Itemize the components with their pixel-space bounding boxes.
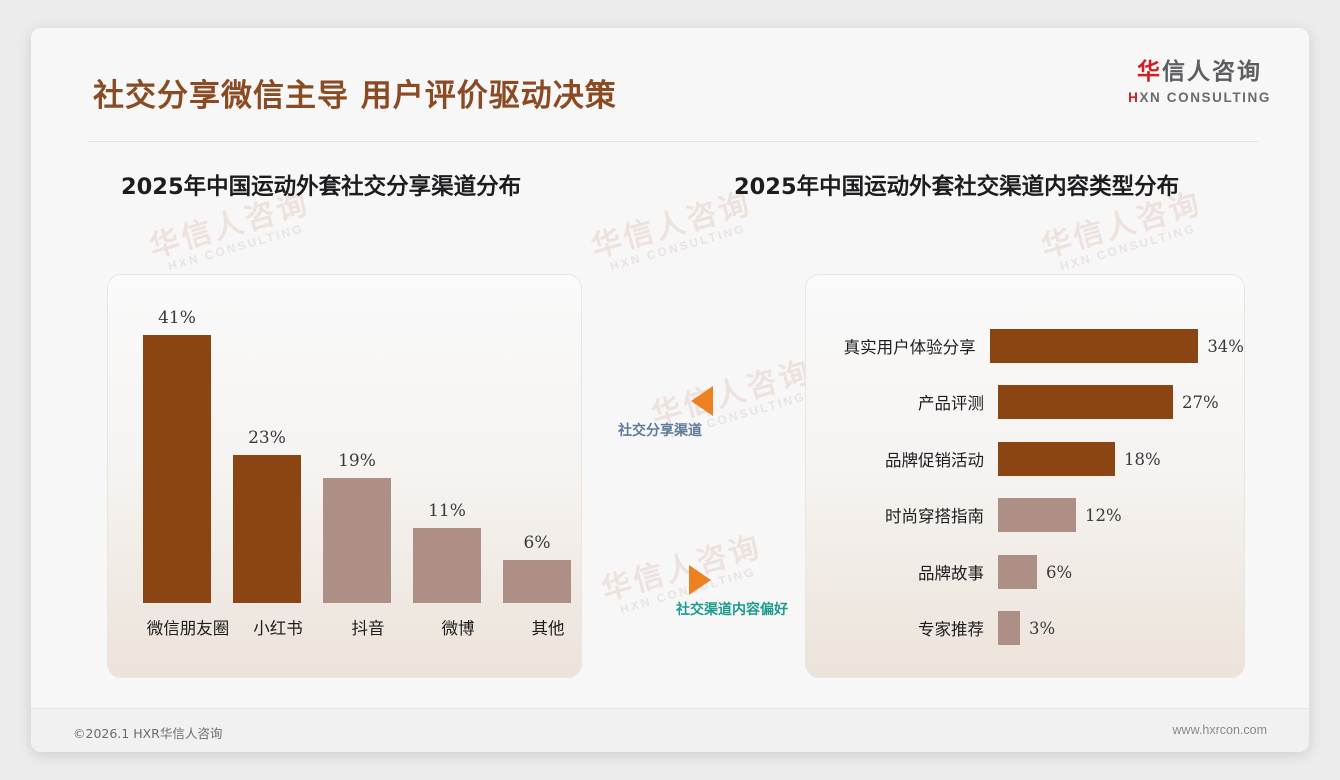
bar-row: 时尚穿搭指南12% bbox=[806, 498, 1244, 532]
bar-column: 41%微信朋友圈 bbox=[132, 335, 222, 603]
annotation-label: 社交分享渠道 bbox=[618, 420, 713, 440]
bar: 19%抖音 bbox=[323, 478, 391, 603]
watermark-en: HXN CONSULTING bbox=[1047, 218, 1209, 276]
bar-category-label: 产品评测 bbox=[806, 390, 998, 414]
watermark: 华信人咨询 HXN CONSULTING bbox=[588, 188, 759, 276]
bar-value-label: 6% bbox=[1046, 563, 1072, 582]
annotation-label: 社交渠道内容偏好 bbox=[676, 599, 788, 619]
bar bbox=[998, 611, 1020, 645]
slide-header: 社交分享微信主导 用户评价驱动决策 华信人咨询 HXN CONSULTING bbox=[31, 28, 1309, 120]
chart-panel-right: 真实用户体验分享34%产品评测27%品牌促销活动18%时尚穿搭指南12%品牌故事… bbox=[805, 274, 1245, 678]
bar-column: 19%抖音 bbox=[312, 478, 402, 603]
bar-value-label: 23% bbox=[233, 428, 301, 448]
title-divider bbox=[88, 141, 1258, 142]
bar-column: 11%微博 bbox=[402, 528, 492, 603]
copyright-text: ©2026.1 HXR华信人咨询 bbox=[73, 723, 222, 742]
slide: 社交分享微信主导 用户评价驱动决策 华信人咨询 HXN CONSULTING 华… bbox=[31, 28, 1309, 752]
bar bbox=[998, 555, 1037, 589]
logo-chinese-text: 华信人咨询 bbox=[1128, 61, 1271, 84]
logo-cn-rest: 信人咨询 bbox=[1162, 59, 1262, 85]
bar-value-label: 34% bbox=[1207, 337, 1244, 356]
bar-value-label: 3% bbox=[1029, 619, 1055, 638]
chart-panel-left: 41%微信朋友圈23%小红书19%抖音11%微博6%其他 bbox=[107, 274, 582, 678]
bar-category-label: 时尚穿搭指南 bbox=[806, 503, 998, 527]
chart-title-left: 2025年中国运动外套社交分享渠道分布 bbox=[121, 169, 521, 201]
bar-row: 专家推荐3% bbox=[806, 611, 1244, 645]
bar: 23%小红书 bbox=[233, 455, 301, 603]
bar-value-label: 19% bbox=[323, 451, 391, 471]
bar-row: 品牌促销活动18% bbox=[806, 442, 1244, 476]
watermark-cn: 华信人咨询 bbox=[588, 188, 755, 264]
triangle-left-icon bbox=[691, 386, 713, 416]
bar-value-label: 41% bbox=[143, 308, 211, 328]
logo-h-char: H bbox=[1128, 90, 1139, 105]
bar-row: 品牌故事6% bbox=[806, 555, 1244, 589]
company-logo: 华信人咨询 HXN CONSULTING bbox=[1128, 61, 1271, 105]
page-title: 社交分享微信主导 用户评价驱动决策 bbox=[93, 70, 617, 115]
watermark: 华信人咨询 HXN CONSULTING bbox=[1038, 188, 1209, 276]
bar-row: 真实用户体验分享34% bbox=[806, 329, 1244, 363]
bar bbox=[990, 329, 1199, 363]
watermark: 华信人咨询 HXN CONSULTING bbox=[146, 188, 317, 276]
bar-value-label: 27% bbox=[1182, 393, 1219, 412]
bar-value-label: 12% bbox=[1085, 506, 1122, 525]
logo-english-text: HXN CONSULTING bbox=[1128, 91, 1271, 105]
annotation-social-share-channel: 社交分享渠道 bbox=[618, 386, 713, 440]
horizontal-bar-chart: 真实用户体验分享34%产品评测27%品牌促销活动18%时尚穿搭指南12%品牌故事… bbox=[806, 275, 1244, 677]
bar-value-label: 18% bbox=[1124, 450, 1161, 469]
annotation-content-preference: 社交渠道内容偏好 bbox=[686, 565, 788, 619]
bar bbox=[998, 498, 1076, 532]
website-url: www.hxrcon.com bbox=[1173, 723, 1267, 737]
bar-category-label: 真实用户体验分享 bbox=[806, 334, 990, 358]
bar-category-label: 其他 bbox=[491, 615, 605, 639]
bar: 41%微信朋友圈 bbox=[143, 335, 211, 603]
bar-value-label: 11% bbox=[413, 501, 481, 521]
bar-value-label: 6% bbox=[503, 533, 571, 553]
bar-category-label: 专家推荐 bbox=[806, 616, 998, 640]
bar-category-label: 品牌故事 bbox=[806, 560, 998, 584]
footer-bar: ©2026.1 HXR华信人咨询 www.hxrcon.com bbox=[31, 708, 1309, 752]
bar-row: 产品评测27% bbox=[806, 385, 1244, 419]
triangle-right-icon bbox=[689, 565, 711, 595]
bar-column: 6%其他 bbox=[492, 560, 582, 603]
watermark-en: HXN CONSULTING bbox=[597, 218, 759, 276]
bar-column: 23%小红书 bbox=[222, 455, 312, 603]
logo-en-rest: XN CONSULTING bbox=[1139, 90, 1271, 105]
vertical-bar-chart: 41%微信朋友圈23%小红书19%抖音11%微博6%其他 bbox=[108, 275, 581, 677]
logo-hua-char: 华 bbox=[1137, 59, 1162, 85]
bar: 6%其他 bbox=[503, 560, 571, 603]
bar bbox=[998, 385, 1173, 419]
bar-category-label: 品牌促销活动 bbox=[806, 447, 998, 471]
chart-title-right: 2025年中国运动外套社交渠道内容类型分布 bbox=[734, 169, 1179, 201]
watermark-en: HXN CONSULTING bbox=[155, 218, 317, 276]
bar bbox=[998, 442, 1115, 476]
bar: 11%微博 bbox=[413, 528, 481, 603]
